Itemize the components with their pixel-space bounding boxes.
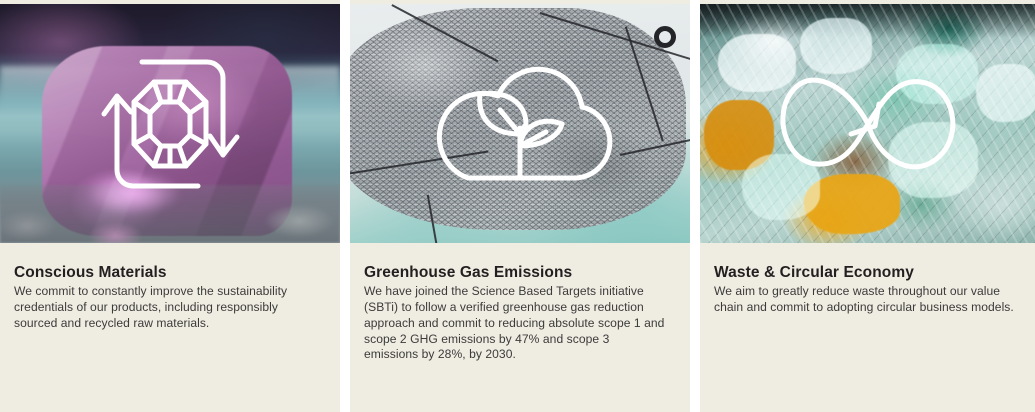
glass-shard <box>896 44 978 104</box>
card-title: Greenhouse Gas Emissions <box>364 264 676 282</box>
card-title: Conscious Materials <box>14 264 326 282</box>
card-greenhouse-gas-emissions[interactable]: Greenhouse Gas Emissions We have joined … <box>350 0 690 412</box>
card-body: We have joined the Science Based Targets… <box>364 284 666 364</box>
glass-shard <box>888 122 978 198</box>
card-text-waste-circular-economy: Waste & Circular Economy We aim to great… <box>700 243 1035 412</box>
glass-shard <box>800 18 872 74</box>
card-image-greenhouse-gas-emissions <box>350 4 690 243</box>
gem-glow-highlight <box>86 171 182 215</box>
card-image-waste-circular-economy <box>700 4 1035 243</box>
card-text-greenhouse-gas-emissions: Greenhouse Gas Emissions We have joined … <box>350 243 690 412</box>
card-image-conscious-materials <box>0 4 340 243</box>
card-conscious-materials[interactable]: Conscious Materials We commit to constan… <box>0 0 340 412</box>
glass-shard <box>718 34 796 92</box>
card-body: We aim to greatly reduce waste throughou… <box>714 284 1016 316</box>
sustainability-pillars-section: Conscious Materials We commit to constan… <box>0 0 1035 412</box>
glass-shard <box>742 154 820 220</box>
card-body: We commit to constantly improve the sust… <box>14 284 316 332</box>
card-waste-circular-economy[interactable]: Waste & Circular Economy We aim to great… <box>700 0 1035 412</box>
glass-shard <box>976 64 1035 122</box>
card-title: Waste & Circular Economy <box>714 264 1021 282</box>
net-metal-ring <box>654 26 676 48</box>
card-text-conscious-materials: Conscious Materials We commit to constan… <box>0 243 340 412</box>
